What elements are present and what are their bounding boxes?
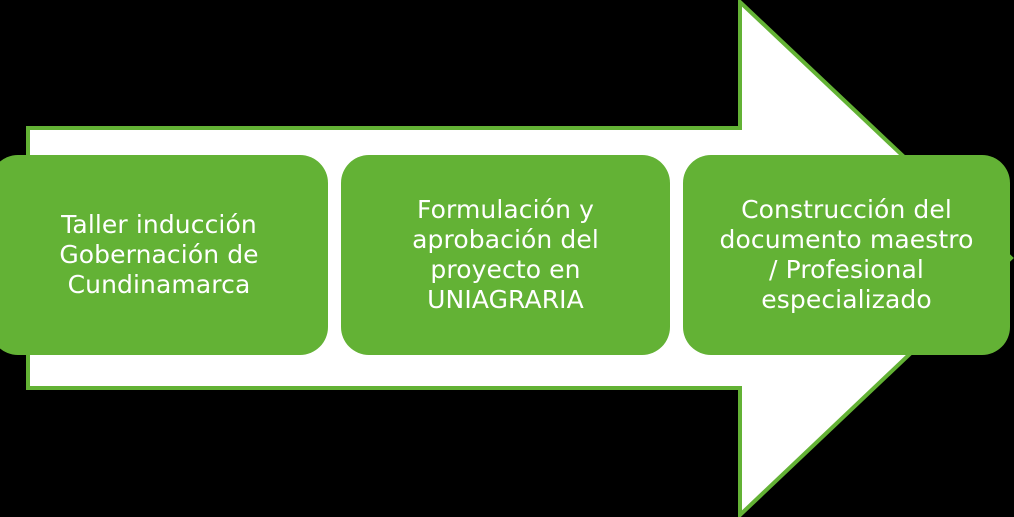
process-arrow-diagram: Taller inducción Gobernación de Cundinam… [0, 0, 1014, 517]
process-step-list: Taller inducción Gobernación de Cundinam… [0, 0, 1014, 517]
process-step-1-label: Taller inducción Gobernación de Cundinam… [0, 210, 318, 300]
process-step-2[interactable]: Formulación y aprobación del proyecto en… [341, 155, 670, 355]
process-step-3[interactable]: Construcción del documento maestro / Pro… [683, 155, 1010, 355]
process-step-2-label: Formulación y aprobación del proyecto en… [351, 195, 660, 315]
process-step-3-label: Construcción del documento maestro / Pro… [693, 195, 1000, 315]
process-step-1[interactable]: Taller inducción Gobernación de Cundinam… [0, 155, 328, 355]
